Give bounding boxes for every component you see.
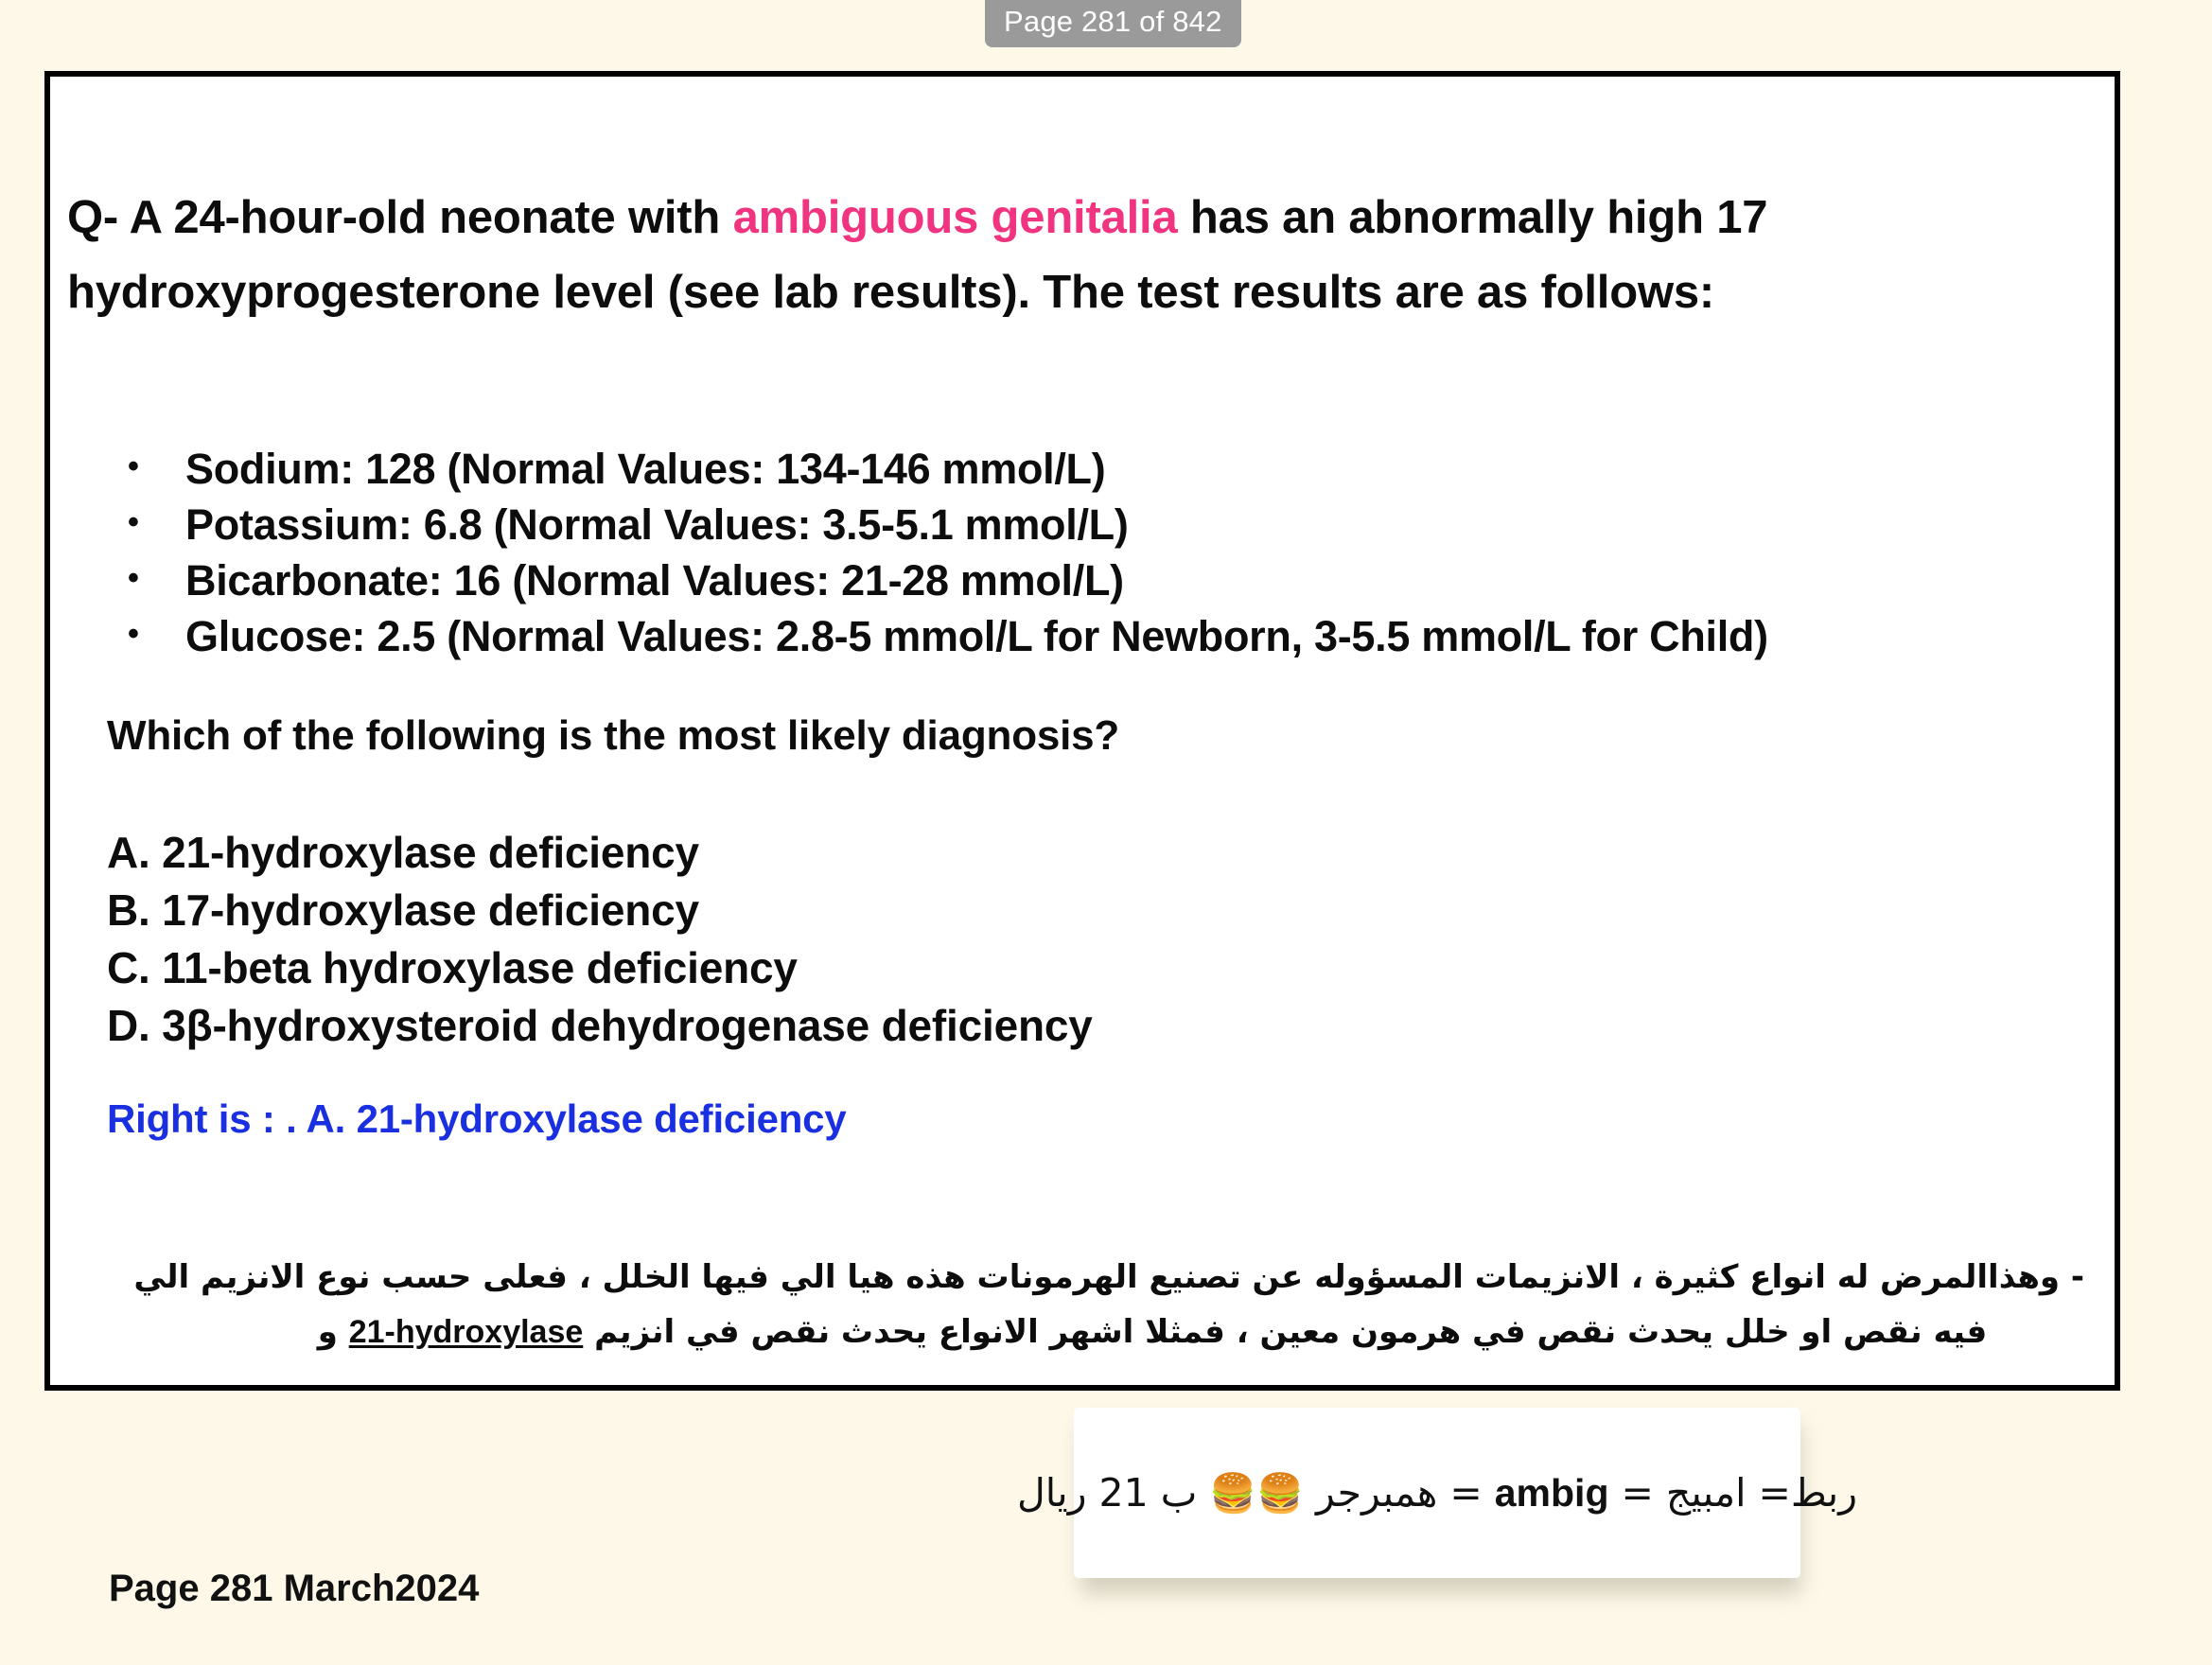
sticky-note: ربط= امبيج = ambig = همبرجر 🍔🍔 ب 21 ريال xyxy=(1074,1408,1800,1578)
choice-a[interactable]: A. 21-hydroxylase deficiency xyxy=(107,824,1905,882)
stem-text-before: Q- A 24-hour-old neonate with xyxy=(67,192,733,243)
answer-choices: A. 21-hydroxylase deficiency B. 17-hydro… xyxy=(107,824,1905,1055)
lab-results-list: Sodium: 128 (Normal Values: 134-146 mmol… xyxy=(107,441,2075,664)
correct-answer: Right is : . A. 21-hydroxylase deficienc… xyxy=(107,1096,847,1142)
list-item: Glucose: 2.5 (Normal Values: 2.8-5 mmol/… xyxy=(107,608,2075,664)
page-footer: Page 281 March2024 xyxy=(109,1568,479,1610)
page-indicator: Page 281 of 842 xyxy=(985,0,1241,47)
sticky-latin-word: ambig xyxy=(1495,1471,1609,1515)
list-item: Bicarbonate: 16 (Normal Values: 21-28 mm… xyxy=(107,552,2075,608)
hamburger-emoji-icon: 🍔🍔 xyxy=(1209,1472,1304,1516)
arabic-explanation: - وهذاالمرض له انواع كثيرة ، الانزيمات ا… xyxy=(107,1250,2084,1359)
sticky-text-mid: = همبرجر xyxy=(1304,1470,1495,1516)
sticky-text-right: ربط= امبيج = xyxy=(1609,1470,1858,1516)
choice-c[interactable]: C. 11-beta hydroxylase deficiency xyxy=(107,939,1905,997)
sticky-note-text: ربط= امبيج = ambig = همبرجر 🍔🍔 ب 21 ريال xyxy=(1017,1470,1857,1516)
sticky-text-left: ب 21 ريال xyxy=(1017,1470,1209,1516)
list-item: Sodium: 128 (Normal Values: 134-146 mmol… xyxy=(107,441,2075,497)
question-prompt: Which of the following is the most likel… xyxy=(107,712,1119,760)
list-item: Potassium: 6.8 (Normal Values: 3.5-5.1 m… xyxy=(107,497,2075,552)
enzyme-name: 21-hydroxylase xyxy=(349,1314,584,1350)
slide-card: Q- A 24-hour-old neonate with ambiguous … xyxy=(44,71,2120,1391)
choice-d[interactable]: D. 3β-hydroxysteroid dehydrogenase defic… xyxy=(107,997,1905,1055)
arabic-line-2: فيه نقص او خلل يحدث نقص في هرمون معين ، … xyxy=(107,1305,2084,1359)
sticky-note-wrapper: ربط= امبيج = ambig = همبرجر 🍔🍔 ب 21 ريال xyxy=(1074,1408,1817,1597)
arabic-line-1: - وهذاالمرض له انواع كثيرة ، الانزيمات ا… xyxy=(107,1250,2084,1305)
choice-b[interactable]: B. 17-hydroxylase deficiency xyxy=(107,882,1905,939)
question-stem: Q- A 24-hour-old neonate with ambiguous … xyxy=(67,181,2082,330)
arabic-line-2-text: فيه نقص او خلل يحدث نقص في هرمون معين ، … xyxy=(594,1313,1987,1351)
arabic-line-2-suffix: و xyxy=(318,1313,338,1351)
stem-highlight: ambiguous genitalia xyxy=(733,192,1178,243)
